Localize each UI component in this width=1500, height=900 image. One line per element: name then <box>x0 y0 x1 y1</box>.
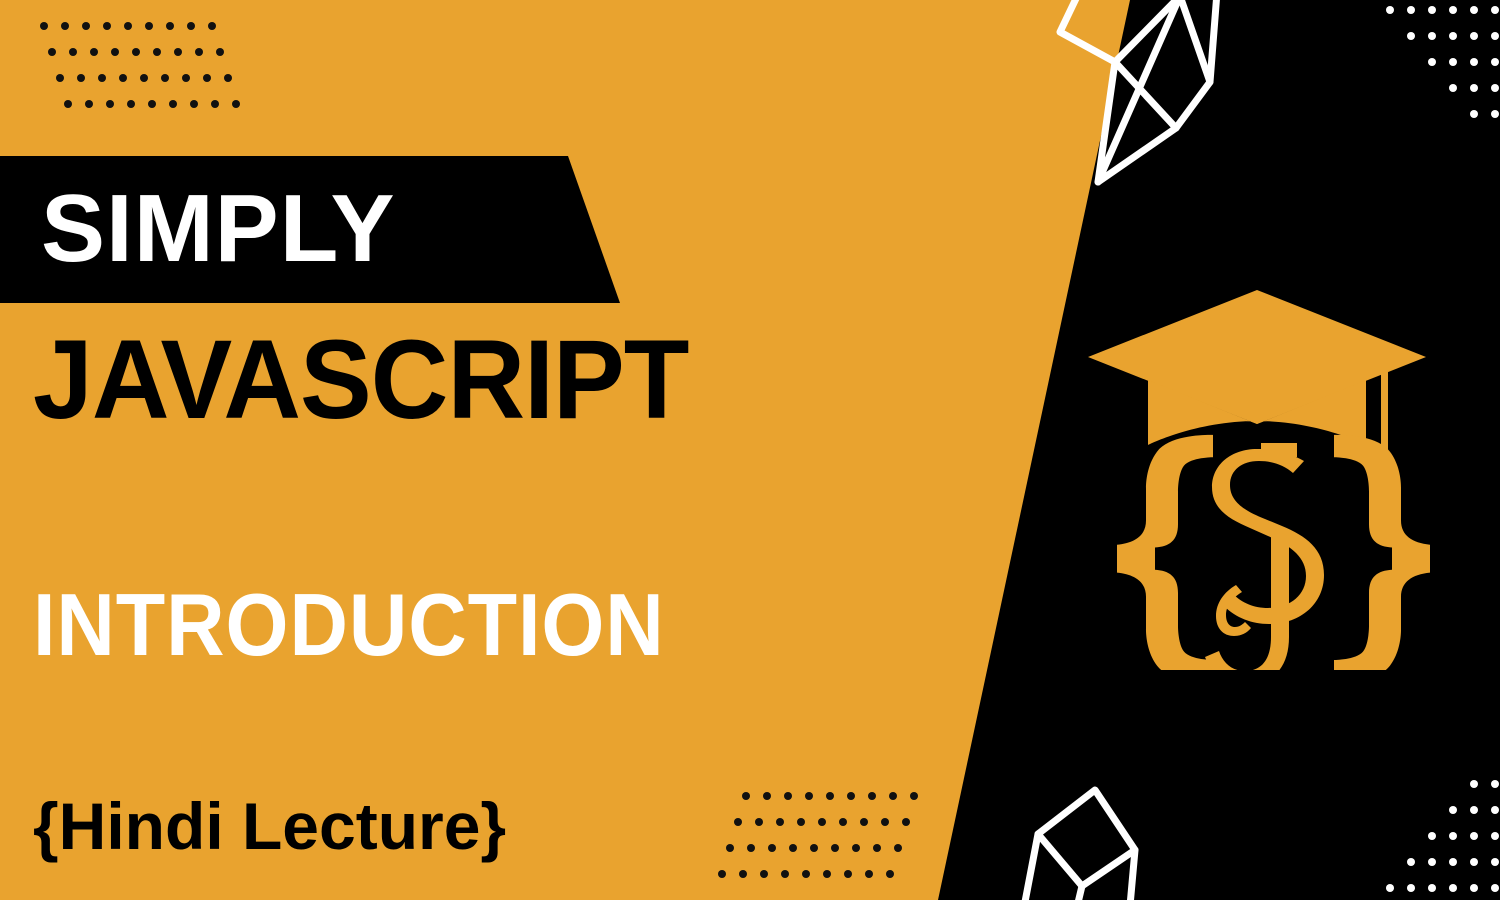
dot <box>734 818 742 826</box>
dot <box>1470 858 1478 866</box>
dot <box>1428 832 1436 840</box>
subtitle-introduction: INTRODUCTION <box>33 577 665 673</box>
dot <box>818 818 826 826</box>
dot <box>1470 832 1478 840</box>
dot <box>1491 32 1499 40</box>
dot <box>1449 84 1457 92</box>
dot-triangle-top-right <box>1386 6 1500 136</box>
wireframe-gem-bottom-icon <box>1000 768 1200 900</box>
dot <box>889 792 897 800</box>
dot-row <box>40 22 253 48</box>
left-curly-brace-icon <box>1117 435 1213 670</box>
tagline-hindi-lecture: {Hindi Lecture} <box>33 786 506 866</box>
dot <box>145 22 153 30</box>
dot <box>1449 806 1457 814</box>
dot <box>69 48 77 56</box>
dot <box>831 844 839 852</box>
dot <box>1491 832 1499 840</box>
dot <box>1407 6 1415 14</box>
dot-row <box>64 100 253 126</box>
dot <box>755 818 763 826</box>
dot <box>56 74 64 82</box>
dot <box>61 22 69 30</box>
dot <box>1407 32 1415 40</box>
dot <box>40 22 48 30</box>
dot <box>894 844 902 852</box>
dot-row <box>1470 780 1500 806</box>
dot <box>1386 6 1394 14</box>
dot <box>132 48 140 56</box>
dot <box>203 74 211 82</box>
dot <box>1407 884 1415 892</box>
dot <box>781 870 789 878</box>
dot-grid-bottom-middle <box>718 792 931 896</box>
dot <box>1449 6 1457 14</box>
dot <box>161 74 169 82</box>
dot-row <box>48 48 253 74</box>
dot <box>763 792 771 800</box>
dot <box>1470 58 1478 66</box>
dot-row <box>1470 110 1500 136</box>
title-line-javascript: JAVASCRIPT <box>33 320 689 440</box>
dot <box>166 22 174 30</box>
dot-row <box>1428 832 1500 858</box>
dot <box>852 844 860 852</box>
dot <box>760 870 768 878</box>
dot <box>768 844 776 852</box>
dot <box>1491 884 1499 892</box>
dot-row <box>56 74 253 100</box>
dot <box>910 792 918 800</box>
dot <box>211 100 219 108</box>
dot-row <box>1449 806 1500 832</box>
dot <box>839 818 847 826</box>
dot <box>1470 884 1478 892</box>
dot <box>119 74 127 82</box>
dot <box>1470 84 1478 92</box>
dot <box>1428 32 1436 40</box>
dot <box>1449 832 1457 840</box>
dot <box>195 48 203 56</box>
dot <box>805 792 813 800</box>
dot <box>1470 110 1478 118</box>
thumbnail-canvas: SIMPLY JAVASCRIPT INTRODUCTION {Hindi Le… <box>0 0 1500 900</box>
dot <box>844 870 852 878</box>
dot <box>127 100 135 108</box>
dot <box>82 22 90 30</box>
dot <box>1470 6 1478 14</box>
dot <box>106 100 114 108</box>
monogram-top-bar-icon <box>1261 443 1297 457</box>
dot <box>726 844 734 852</box>
dot <box>1491 84 1499 92</box>
dot <box>1449 58 1457 66</box>
dot <box>1428 6 1436 14</box>
dot <box>1470 780 1478 788</box>
dot <box>85 100 93 108</box>
dot <box>232 100 240 108</box>
dot <box>140 74 148 82</box>
dot-row <box>742 792 931 818</box>
dot <box>1470 32 1478 40</box>
dot <box>153 48 161 56</box>
dot <box>1491 110 1499 118</box>
j-descender-icon <box>1205 529 1289 670</box>
dot <box>190 100 198 108</box>
dot <box>776 818 784 826</box>
dot <box>823 870 831 878</box>
dot <box>98 74 106 82</box>
dot <box>48 48 56 56</box>
dot <box>208 22 216 30</box>
dot <box>1449 32 1457 40</box>
dot <box>1428 58 1436 66</box>
dot <box>77 74 85 82</box>
dot <box>881 818 889 826</box>
dot <box>742 792 750 800</box>
dot <box>1428 858 1436 866</box>
dot <box>847 792 855 800</box>
dot <box>90 48 98 56</box>
dot <box>784 792 792 800</box>
dot <box>739 870 747 878</box>
dot-row <box>1386 6 1500 32</box>
dot <box>797 818 805 826</box>
dot <box>174 48 182 56</box>
dot-triangle-bottom-right <box>1386 780 1500 900</box>
dot-row <box>1428 58 1500 84</box>
dot <box>182 74 190 82</box>
dot <box>103 22 111 30</box>
dot-row <box>734 818 931 844</box>
graduation-cap-braces-logo-icon <box>1085 285 1430 670</box>
dot <box>224 74 232 82</box>
dot <box>810 844 818 852</box>
dot-row <box>1407 858 1500 884</box>
dot-row <box>1407 32 1500 58</box>
dot <box>1470 806 1478 814</box>
dot <box>902 818 910 826</box>
wireframe-gem-top-icon <box>1020 0 1240 220</box>
mortarboard-board-icon <box>1088 290 1426 424</box>
dot-row <box>718 870 931 896</box>
dot <box>1428 884 1436 892</box>
dot <box>860 818 868 826</box>
dot <box>1491 858 1499 866</box>
dot <box>1449 884 1457 892</box>
dot <box>169 100 177 108</box>
dot <box>1491 58 1499 66</box>
dot <box>1449 858 1457 866</box>
dot <box>124 22 132 30</box>
dot <box>826 792 834 800</box>
dot <box>111 48 119 56</box>
dot <box>1386 884 1394 892</box>
dot <box>718 870 726 878</box>
dot <box>865 870 873 878</box>
dot <box>1407 858 1415 866</box>
dot <box>1491 6 1499 14</box>
dot <box>148 100 156 108</box>
dot <box>868 792 876 800</box>
dot-grid-top-left <box>40 22 253 126</box>
dot <box>187 22 195 30</box>
dot <box>789 844 797 852</box>
dot <box>886 870 894 878</box>
title-line-simply: SIMPLY <box>41 170 396 288</box>
dot-row <box>1449 84 1500 110</box>
dot <box>873 844 881 852</box>
dot-row <box>1386 884 1500 900</box>
dot <box>747 844 755 852</box>
dot <box>802 870 810 878</box>
dot <box>64 100 72 108</box>
dot <box>216 48 224 56</box>
dot <box>1491 806 1499 814</box>
dot-row <box>726 844 931 870</box>
dot <box>1491 780 1499 788</box>
right-curly-brace-icon <box>1334 435 1430 670</box>
